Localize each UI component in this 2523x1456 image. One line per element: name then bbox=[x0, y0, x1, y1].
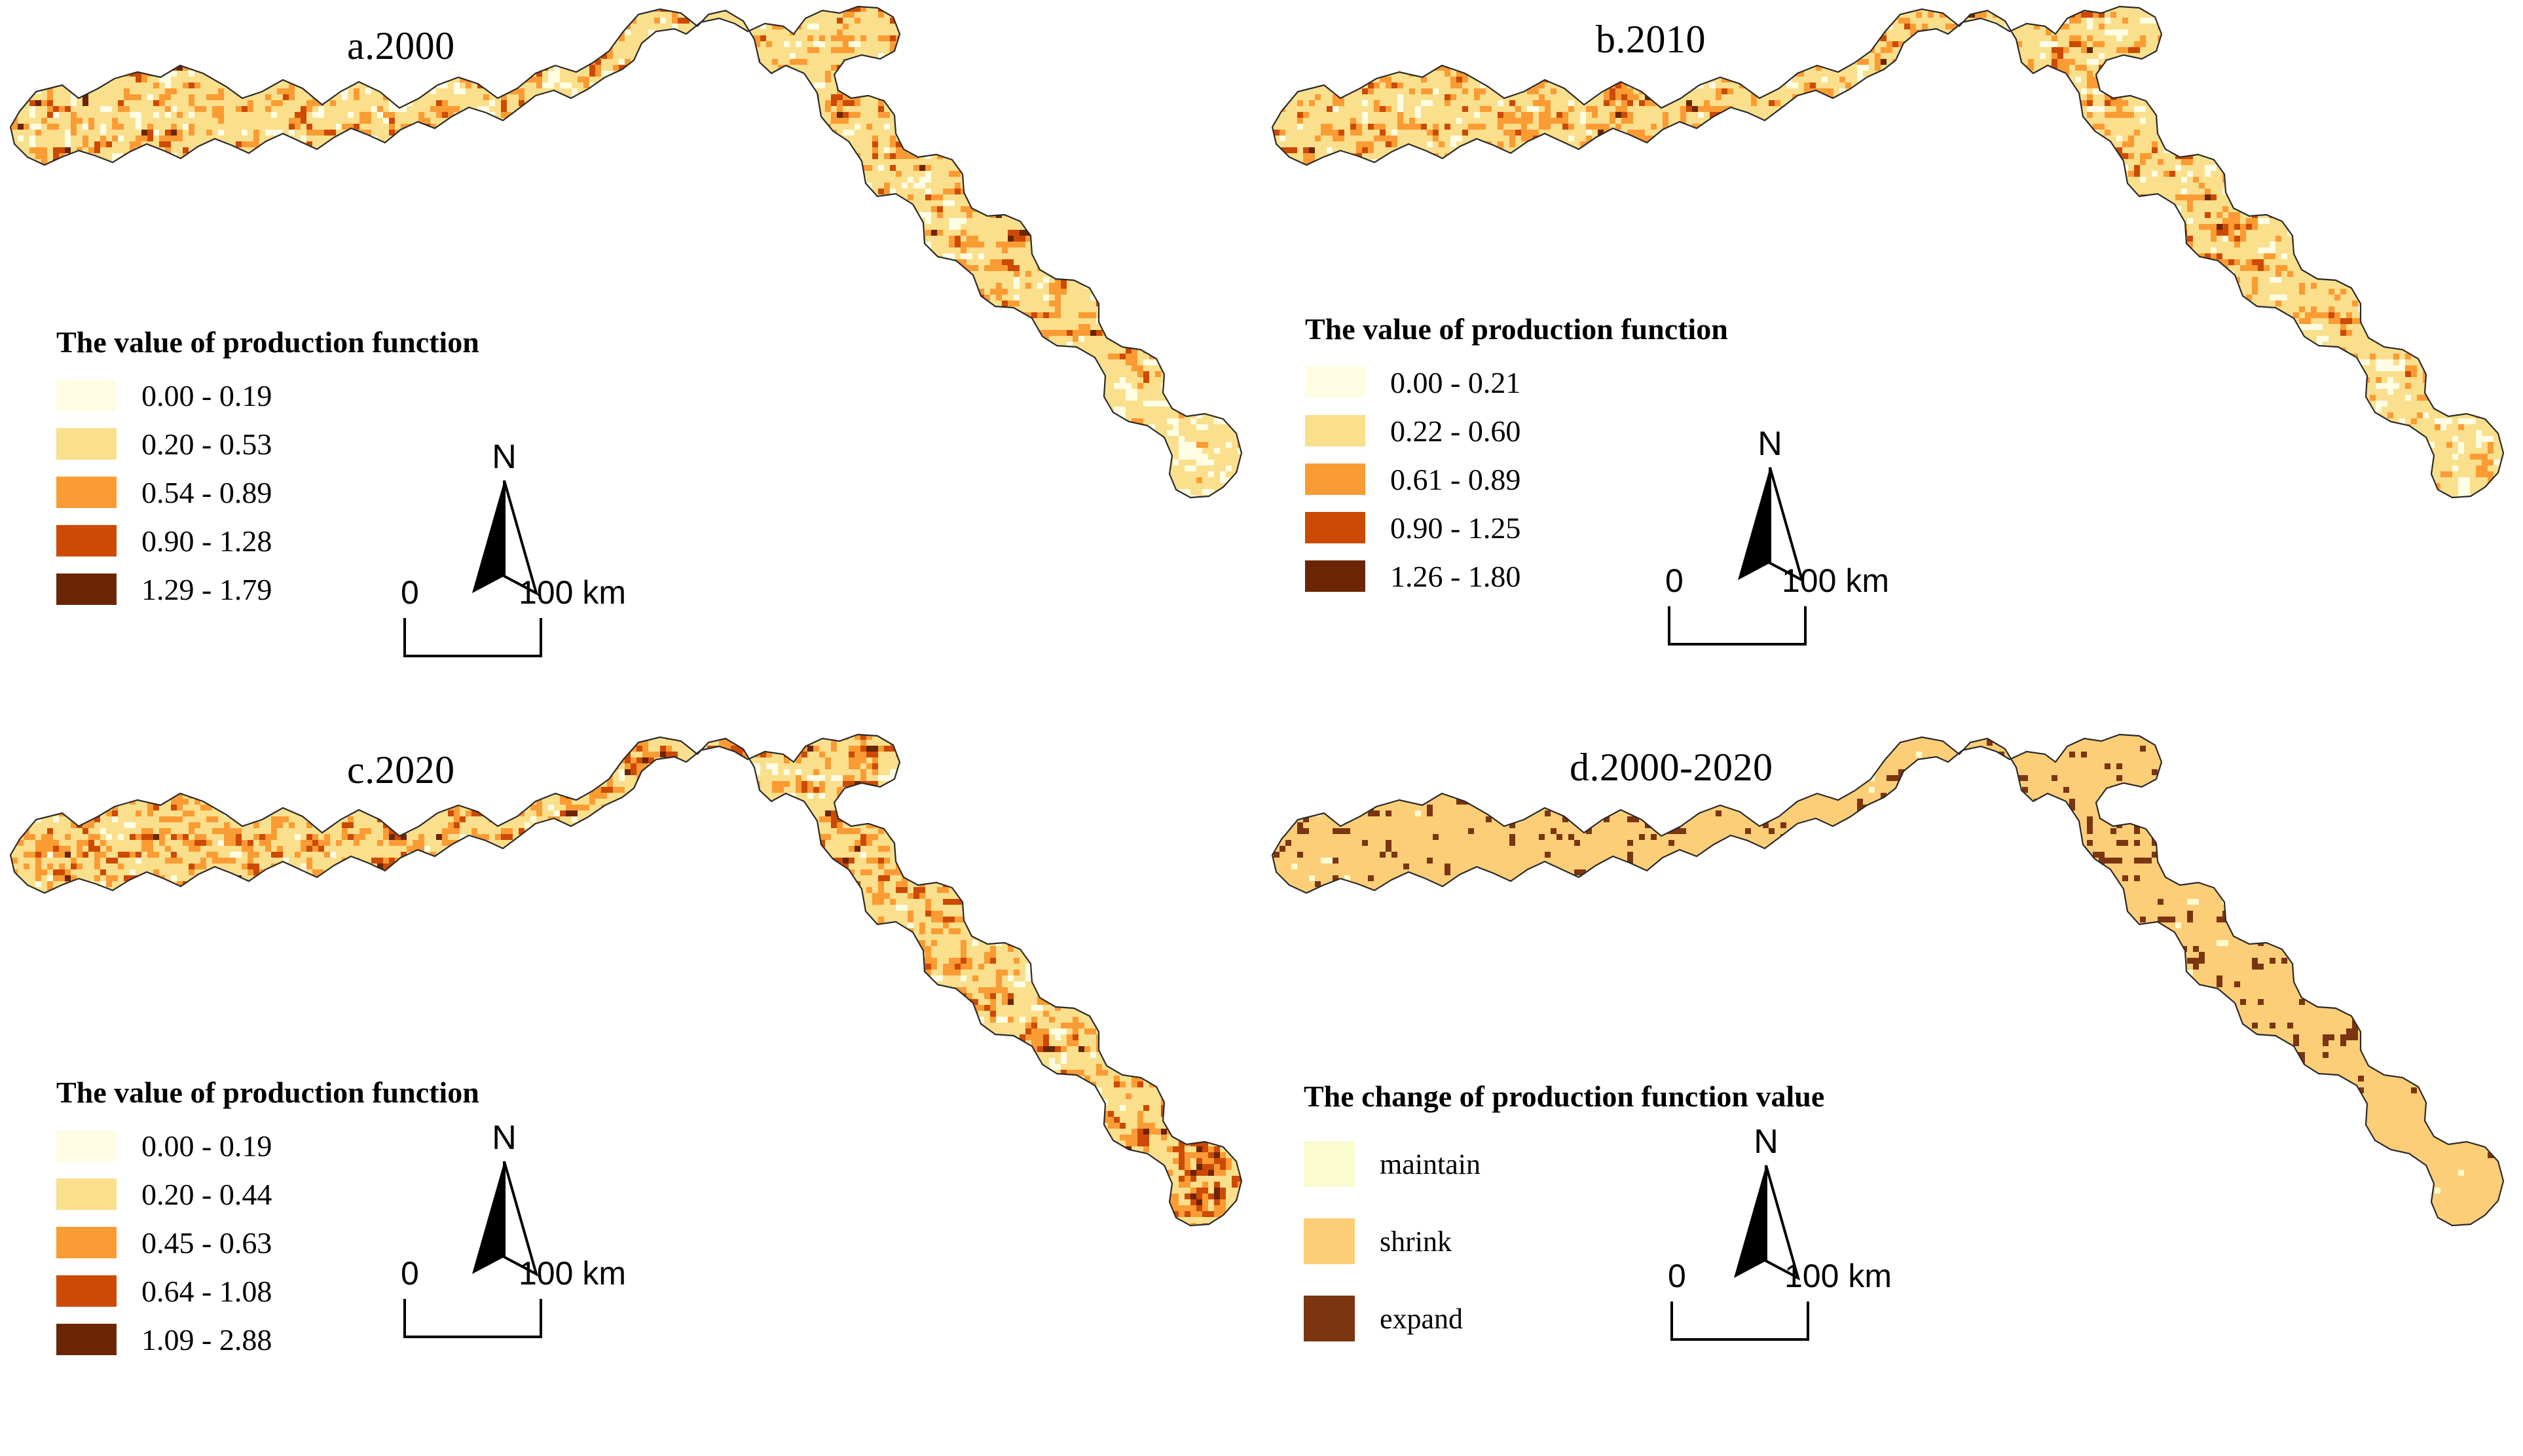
legend-title-a: The value of production function bbox=[56, 325, 479, 359]
panel-a-2000: a.2000 The value of production function … bbox=[0, 0, 1261, 728]
scale-bar-a: 0 100 km bbox=[401, 576, 676, 664]
legend-item-label: expand bbox=[1380, 1302, 1463, 1336]
legend-title-d: The change of production function value bbox=[1304, 1079, 1824, 1114]
legend-swatch bbox=[1304, 1141, 1355, 1187]
legend-swatch bbox=[56, 525, 117, 556]
legend-item[interactable]: 0.90 - 1.25 bbox=[1305, 503, 1728, 552]
scale-bracket-icon bbox=[401, 614, 610, 661]
legend-swatch bbox=[56, 1275, 117, 1307]
legend-swatch bbox=[1305, 464, 1365, 495]
scale-max-label: 100 km bbox=[519, 1257, 626, 1290]
panel-c-2020: c.2020 The value of production function … bbox=[0, 728, 1261, 1456]
scale-bracket bbox=[1668, 1298, 1943, 1348]
north-letter-b: N bbox=[1758, 427, 1782, 461]
north-arrow-c: N bbox=[458, 1121, 550, 1271]
panel-title-c: c.2020 bbox=[347, 748, 455, 793]
legend-item-label: 0.00 - 0.19 bbox=[141, 378, 272, 413]
scale-min-label: 0 bbox=[401, 576, 419, 609]
legend-swatch bbox=[56, 573, 117, 605]
legend-item-label: 0.90 - 1.25 bbox=[1390, 511, 1520, 545]
scale-bracket-icon bbox=[1668, 1298, 1877, 1345]
legend-title-c: The value of production function bbox=[56, 1075, 479, 1110]
legend-item-label: 0.90 - 1.28 bbox=[141, 524, 272, 558]
legend-swatch bbox=[56, 477, 117, 508]
scale-min-label: 0 bbox=[1668, 1260, 1686, 1292]
legend-item-label: 0.45 - 0.63 bbox=[141, 1226, 272, 1260]
legend-item-label: 0.22 - 0.60 bbox=[1390, 414, 1520, 448]
scale-bar-b: 0 100 km bbox=[1665, 564, 1940, 653]
scale-bracket bbox=[1665, 602, 1940, 653]
legend-item[interactable]: 0.90 - 1.28 bbox=[56, 517, 479, 565]
scale-bracket-icon bbox=[1665, 602, 1875, 649]
legend-item-label: 0.64 - 1.08 bbox=[141, 1274, 272, 1309]
scale-max-label: 100 km bbox=[519, 576, 626, 609]
legend-swatch bbox=[1305, 415, 1365, 446]
legend-swatch bbox=[1305, 512, 1365, 543]
legend-item[interactable]: 0.22 - 0.60 bbox=[1305, 407, 1728, 455]
legend-item-label: 1.09 - 2.88 bbox=[141, 1322, 272, 1357]
north-arrow-b: N bbox=[1724, 427, 1816, 577]
legend-items-b: 0.00 - 0.21 0.22 - 0.60 0.61 - 0.89 0.90… bbox=[1305, 358, 1728, 600]
legend-item-label: 0.20 - 0.44 bbox=[141, 1177, 272, 1212]
scale-bracket bbox=[401, 614, 676, 664]
legend-b: The value of production function 0.00 - … bbox=[1305, 312, 1728, 600]
legend-item-label: 0.20 - 0.53 bbox=[141, 427, 272, 462]
legend-item[interactable]: 0.20 - 0.53 bbox=[56, 420, 479, 468]
scale-max-label: 100 km bbox=[1782, 564, 1889, 597]
legend-item-label: 1.26 - 1.80 bbox=[1390, 559, 1520, 594]
legend-item[interactable]: 0.20 - 0.44 bbox=[56, 1170, 479, 1218]
figure-grid: a.2000 The value of production function … bbox=[0, 0, 2523, 1456]
legend-title-b: The value of production function bbox=[1305, 312, 1728, 346]
legend-item-label: 0.54 - 0.89 bbox=[141, 475, 272, 510]
legend-item[interactable]: 0.54 - 0.89 bbox=[56, 468, 479, 517]
scale-min-label: 0 bbox=[1665, 564, 1684, 597]
legend-item[interactable]: 1.26 - 1.80 bbox=[1305, 552, 1728, 600]
legend-item-label: 1.29 - 1.79 bbox=[141, 572, 272, 607]
scale-max-label: 100 km bbox=[1784, 1260, 1892, 1292]
legend-item-label: 0.00 - 0.21 bbox=[1390, 365, 1520, 400]
legend-item[interactable]: 0.00 - 0.19 bbox=[56, 1121, 479, 1170]
scale-bracket bbox=[401, 1295, 676, 1345]
legend-swatch bbox=[1304, 1218, 1355, 1264]
scale-bar-c: 0 100 km bbox=[401, 1257, 676, 1345]
north-arrow-a: N bbox=[458, 440, 550, 591]
panel-b-2010: b.2010 The value of production function … bbox=[1262, 0, 2523, 728]
scale-bar-d: 0 100 km bbox=[1668, 1260, 1943, 1348]
panel-title-a: a.2000 bbox=[347, 24, 455, 69]
north-letter-a: N bbox=[492, 440, 517, 474]
legend-swatch bbox=[56, 1178, 117, 1210]
legend-swatch bbox=[56, 380, 117, 411]
panel-d-2000-2020: d.2000-2020 The change of production fun… bbox=[1262, 728, 2523, 1456]
legend-a: The value of production function 0.00 - … bbox=[56, 325, 479, 613]
panel-title-d: d.2000-2020 bbox=[1570, 745, 1773, 790]
scale-min-label: 0 bbox=[401, 1257, 419, 1290]
legend-swatch bbox=[56, 1324, 117, 1355]
legend-swatch bbox=[56, 428, 117, 460]
panel-title-b: b.2010 bbox=[1596, 17, 1706, 62]
legend-item[interactable]: 0.00 - 0.21 bbox=[1305, 358, 1728, 407]
north-letter-d: N bbox=[1754, 1125, 1778, 1159]
legend-item-label: 0.61 - 0.89 bbox=[1390, 462, 1520, 497]
legend-item-label: shrink bbox=[1380, 1225, 1452, 1258]
legend-swatch bbox=[56, 1227, 117, 1258]
north-arrow-d: N bbox=[1720, 1125, 1812, 1275]
north-letter-c: N bbox=[492, 1121, 517, 1155]
legend-item[interactable]: 0.61 - 0.89 bbox=[1305, 455, 1728, 503]
legend-item-label: 0.00 - 0.19 bbox=[141, 1129, 272, 1163]
legend-item-label: maintain bbox=[1380, 1148, 1481, 1181]
legend-swatch bbox=[1304, 1296, 1355, 1341]
legend-swatch bbox=[56, 1130, 117, 1161]
legend-item[interactable]: 0.00 - 0.19 bbox=[56, 371, 479, 420]
scale-bracket-icon bbox=[401, 1295, 610, 1342]
legend-swatch bbox=[1305, 367, 1365, 398]
legend-swatch bbox=[1305, 560, 1365, 592]
